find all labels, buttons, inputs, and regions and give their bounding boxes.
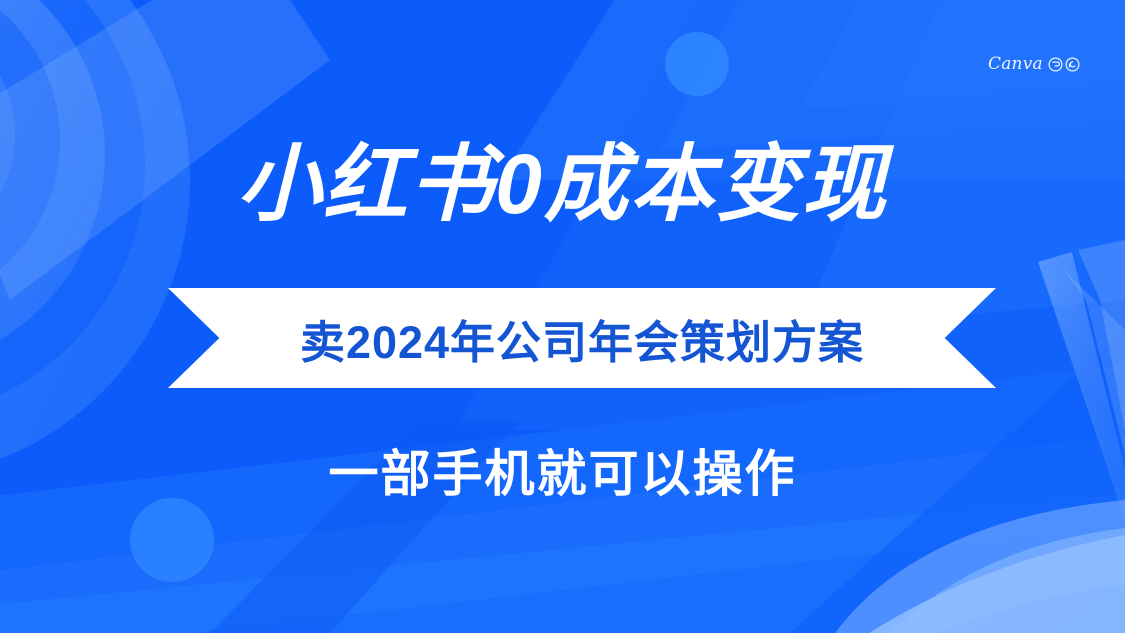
poster-canvas: Canva 小红书0成本变现 卖2024年公司年会策划方案 一部手机就可以操作 — [0, 0, 1125, 633]
banner-subtitle-text: 卖2024年公司年会策划方案 — [168, 288, 996, 388]
tagline-text: 一部手机就可以操作 — [0, 434, 1125, 506]
poster-content: 小红书0成本变现 卖2024年公司年会策划方案 一部手机就可以操作 — [0, 0, 1125, 633]
subtitle-banner: 卖2024年公司年会策划方案 — [168, 288, 996, 388]
headline-title: 小红书0成本变现 — [0, 140, 1125, 228]
